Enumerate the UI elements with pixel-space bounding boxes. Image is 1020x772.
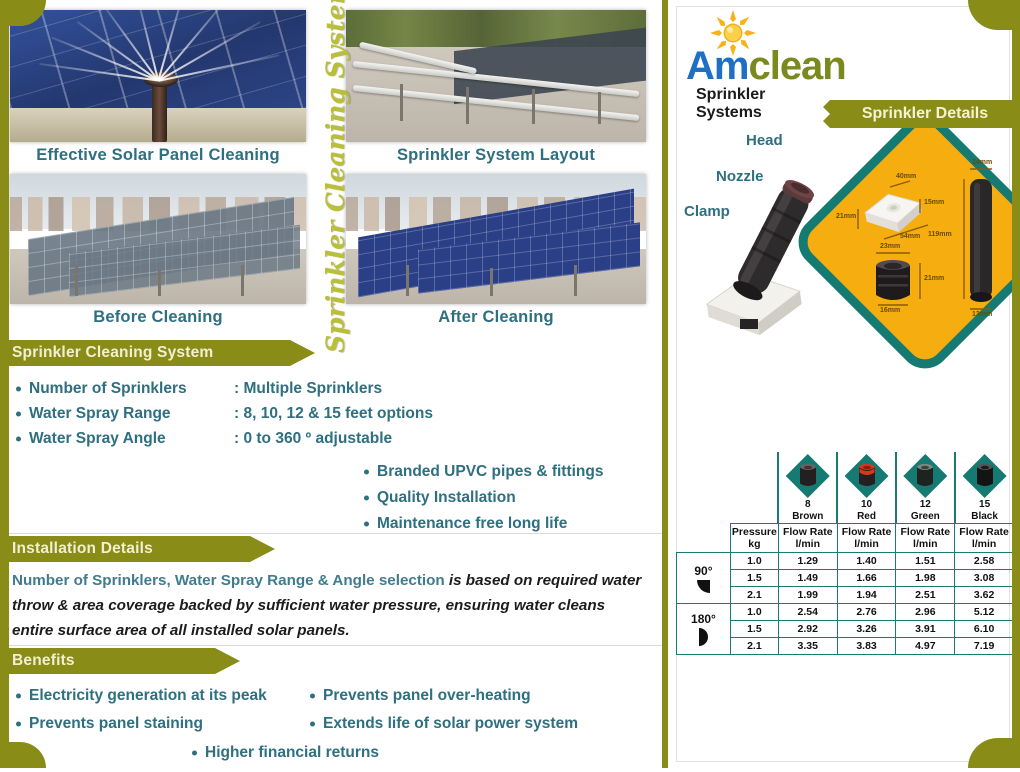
banner-label: Sprinkler Details xyxy=(862,105,988,123)
nozzle-header-cell: 8 Brown xyxy=(778,452,837,524)
nozzle-size: 12 xyxy=(897,499,954,511)
angle-label: 90° xyxy=(678,564,729,578)
section-benefits: Benefits Electricity generation at its p… xyxy=(0,645,662,772)
photo-caption: After Cleaning xyxy=(346,308,646,327)
photo-sprinkler-system-layout: Sprinkler System Layout xyxy=(346,10,646,142)
nozzle-size: 8 xyxy=(779,499,836,511)
dim-clamp-height: 21mm xyxy=(836,213,856,220)
flow-value: 1.94 xyxy=(837,587,896,604)
logo-text-clean: clean xyxy=(748,44,845,88)
section-installation: Installation Details Number of Sprinkler… xyxy=(0,533,662,645)
benefit-item: Prevents panel staining xyxy=(14,710,267,738)
vertical-title: Sprinkler Cleaning System xyxy=(318,0,354,330)
half-circle-icon xyxy=(699,628,708,646)
nozzle-header-cell: 15 Black xyxy=(955,452,1014,524)
spec-row-inner: Water Spray Range : 8, 10, 12 & 15 feet … xyxy=(29,401,662,426)
pipe-support xyxy=(598,92,601,124)
nozzle-size: 15 xyxy=(956,499,1014,511)
section-cleaning-system: Sprinkler Cleaning System Number of Spri… xyxy=(0,340,662,537)
label-clamp: Clamp xyxy=(684,203,730,220)
flow-value: 1.40 xyxy=(837,553,896,570)
dim-nozzle-base: 16mm xyxy=(880,307,900,314)
nozzle-color: Brown xyxy=(779,511,836,523)
benefits-col-right: Prevents panel over-heating Extends life… xyxy=(308,682,578,738)
dim-riser-top: 14mm xyxy=(972,159,992,166)
pressure-value: 2.1 xyxy=(730,638,778,655)
label-head: Head xyxy=(746,132,783,149)
nozzle-header-cell: 12 Green xyxy=(896,452,955,524)
flow-value: 4.97 xyxy=(896,638,955,655)
table-header-row: Pressure kg Flow Rate l/min Flow Rate l/… xyxy=(677,524,1014,553)
photo-caption: Before Cleaning xyxy=(10,308,306,327)
sprinkler-riser xyxy=(152,81,167,142)
nozzle-diamond-icon xyxy=(963,454,1007,498)
dim-clamp-thickness: 15mm xyxy=(924,199,944,206)
benefits-col-left: Electricity generation at its peak Preve… xyxy=(14,682,267,738)
flow-value: 1.51 xyxy=(896,553,955,570)
flow-label: Flow Rate xyxy=(897,526,953,538)
flow-value: 3.62 xyxy=(955,587,1014,604)
spec-row-inner: Number of Sprinklers : Multiple Sprinkle… xyxy=(29,376,662,401)
nozzle-icon xyxy=(799,464,816,489)
pressure-value: 1.5 xyxy=(730,621,778,638)
installation-paragraph: Number of Sprinklers, Water Spray Range … xyxy=(0,562,662,645)
dimension-contents: 21mm 40mm 15mm 54mm 23mm 21mm 16mm 14mm … xyxy=(824,143,1020,339)
flow-value: 3.26 xyxy=(837,621,896,638)
flow-header: Flow Rate l/min xyxy=(778,524,837,553)
nozzle-header-cell: 10 Red xyxy=(837,452,896,524)
dim-nozzle-width: 23mm xyxy=(880,243,900,250)
photo-frame xyxy=(346,174,646,304)
label-nozzle: Nozzle xyxy=(716,168,764,185)
dim-clamp-length: 54mm xyxy=(900,233,920,240)
ribbon-cleaning-system: Sprinkler Cleaning System xyxy=(0,340,290,366)
vertical-title-text: Sprinkler Cleaning System xyxy=(322,0,351,353)
flow-value: 3.35 xyxy=(778,638,837,655)
spec-label: Water Spray Angle xyxy=(29,426,234,451)
benefits-list: Electricity generation at its peak Preve… xyxy=(0,682,662,772)
divider xyxy=(0,645,662,646)
panel-support xyxy=(75,265,78,296)
logo-tagline: Sprinkler Systems xyxy=(696,86,765,122)
benefit-item: Extends life of solar power system xyxy=(308,710,578,738)
extras-list: Branded UPVC pipes & fittings Quality In… xyxy=(362,459,662,537)
extra-item: Branded UPVC pipes & fittings xyxy=(362,459,662,485)
dim-clamp-width: 40mm xyxy=(896,173,916,180)
flow-unit: l/min xyxy=(956,538,1012,550)
spec-value: : Multiple Sprinklers xyxy=(234,376,382,401)
nozzle-diamond-icon xyxy=(845,454,889,498)
flow-value: 1.49 xyxy=(778,570,837,587)
pressure-unit: kg xyxy=(732,538,777,550)
nozzle-icon xyxy=(976,464,993,489)
flow-value: 3.08 xyxy=(955,570,1014,587)
flow-label: Flow Rate xyxy=(839,526,895,538)
flow-value: 2.76 xyxy=(837,604,896,621)
pressure-value: 1.0 xyxy=(730,553,778,570)
photo-caption: Sprinkler System Layout xyxy=(346,146,646,165)
photo-effective-solar-panel-cleaning: Effective Solar Panel Cleaning xyxy=(10,10,306,142)
panel-support xyxy=(158,268,161,297)
nozzle-icon xyxy=(858,464,875,489)
section-heading: Benefits xyxy=(0,648,215,674)
extra-item: Quality Installation xyxy=(362,485,662,511)
table-row: 180° 1.0 2.54 2.76 2.96 5.12 xyxy=(677,604,1014,621)
nozzle-color: Red xyxy=(838,511,895,523)
spec-label: Water Spray Range xyxy=(29,401,234,426)
photo-frame xyxy=(10,174,306,304)
flow-rate-table-element: 8 Brown 10 Red xyxy=(676,452,1014,655)
photo-caption: Effective Solar Panel Cleaning xyxy=(10,146,306,165)
brochure-page: Effective Solar Panel Cleaning Sprinkler… xyxy=(0,0,1020,768)
benefits-col-center: Higher financial returns xyxy=(190,739,379,767)
spec-row: Water Spray Angle : 0 to 360 º adjustabl… xyxy=(14,426,662,451)
pressure-label: Pressure xyxy=(732,526,777,538)
ribbon-installation: Installation Details xyxy=(0,536,250,562)
spec-row: Number of Sprinklers : Multiple Sprinkle… xyxy=(14,376,662,401)
flow-header: Flow Rate l/min xyxy=(955,524,1014,553)
section-heading: Installation Details xyxy=(0,536,250,562)
flow-value: 1.66 xyxy=(837,570,896,587)
product-diagram: Head Nozzle Clamp xyxy=(676,135,1020,435)
flow-value: 1.29 xyxy=(778,553,837,570)
flow-unit: l/min xyxy=(839,538,895,550)
flow-value: 2.58 xyxy=(955,553,1014,570)
ribbon-benefits: Benefits xyxy=(0,648,215,674)
pressure-value: 1.5 xyxy=(730,570,778,587)
spec-row-inner: Water Spray Angle : 0 to 360 º adjustabl… xyxy=(29,426,662,451)
banner-notch-icon xyxy=(816,100,830,128)
dimension-svg xyxy=(824,143,1020,339)
flow-rate-table: 8 Brown 10 Red xyxy=(676,452,1014,655)
logo-text-am: Am xyxy=(686,44,748,88)
left-olive-rail xyxy=(0,0,9,768)
spec-items: Number of Sprinklers : Multiple Sprinkle… xyxy=(14,376,662,451)
flow-label: Flow Rate xyxy=(956,526,1012,538)
table-row: 90° 1.0 1.29 1.40 1.51 2.58 xyxy=(677,553,1014,570)
flow-value: 3.91 xyxy=(896,621,955,638)
pressure-header: Pressure kg xyxy=(730,524,778,553)
flow-value: 7.19 xyxy=(955,638,1014,655)
section-heading: Sprinkler Cleaning System xyxy=(0,340,290,366)
panel-support xyxy=(241,265,244,296)
benefit-item: Prevents panel over-heating xyxy=(308,682,578,710)
sprinkler-details-banner: Sprinkler Details xyxy=(830,100,1020,128)
flow-value: 2.51 xyxy=(896,587,955,604)
nozzle-color: Black xyxy=(956,511,1014,523)
panel-support xyxy=(574,265,577,296)
benefit-item: Electricity generation at its peak xyxy=(14,682,267,710)
nozzle-color: Green xyxy=(897,511,954,523)
pressure-value: 1.0 xyxy=(730,604,778,621)
dim-riser-bottom: 13mm xyxy=(972,311,992,318)
flow-value: 3.83 xyxy=(837,638,896,655)
flow-header: Flow Rate l/min xyxy=(896,524,955,553)
photo-frame xyxy=(346,10,646,142)
flow-value: 5.12 xyxy=(955,604,1014,621)
flow-value: 2.96 xyxy=(896,604,955,621)
panel-support xyxy=(490,268,493,297)
spec-row: Water Spray Range : 8, 10, 12 & 15 feet … xyxy=(14,401,662,426)
pipe-support xyxy=(466,87,469,124)
panel-support xyxy=(406,265,409,296)
flow-value: 1.99 xyxy=(778,587,837,604)
spec-label: Number of Sprinklers xyxy=(29,376,234,401)
pipe-support xyxy=(400,84,403,121)
flow-unit: l/min xyxy=(897,538,953,550)
angle-header-spacer xyxy=(677,524,731,553)
flow-unit: l/min xyxy=(780,538,836,550)
nozzle-diamond-icon xyxy=(903,454,947,498)
benefit-item: Higher financial returns xyxy=(190,739,379,767)
photo-after-cleaning: After Cleaning xyxy=(346,174,646,304)
nozzle-size: 10 xyxy=(838,499,895,511)
angle-label: 180° xyxy=(678,612,729,626)
photo-before-cleaning: Before Cleaning xyxy=(10,174,306,304)
nozzle-diamond-icon xyxy=(786,454,830,498)
divider xyxy=(0,533,662,534)
spec-value: : 8, 10, 12 & 15 feet options xyxy=(234,401,433,426)
spec-value: : 0 to 360 º adjustable xyxy=(234,426,392,451)
installation-lead: Number of Sprinklers, Water Spray Range … xyxy=(12,572,445,589)
flow-label: Flow Rate xyxy=(780,526,836,538)
flow-value: 2.54 xyxy=(778,604,837,621)
flow-value: 2.92 xyxy=(778,621,837,638)
pressure-value: 2.1 xyxy=(730,587,778,604)
flow-value: 1.98 xyxy=(896,570,955,587)
spec-list: Number of Sprinklers : Multiple Sprinkle… xyxy=(0,366,662,537)
logo-wordmark: Amclean xyxy=(686,44,846,89)
flow-header: Flow Rate l/min xyxy=(837,524,896,553)
photo-frame xyxy=(10,10,306,142)
dim-nozzle-height: 21mm xyxy=(924,275,944,282)
pipe-support xyxy=(532,89,535,123)
angle-cell-180: 180° xyxy=(677,604,731,655)
quarter-circle-icon xyxy=(697,580,710,593)
angle-cell-90: 90° xyxy=(677,553,731,604)
nozzle-icon xyxy=(917,464,934,489)
dim-riser-length: 119mm xyxy=(928,231,952,238)
flow-value: 6.10 xyxy=(955,621,1014,638)
nozzle-image-row: 8 Brown 10 Red xyxy=(677,452,1014,524)
left-column: Effective Solar Panel Cleaning Sprinkler… xyxy=(0,0,668,768)
